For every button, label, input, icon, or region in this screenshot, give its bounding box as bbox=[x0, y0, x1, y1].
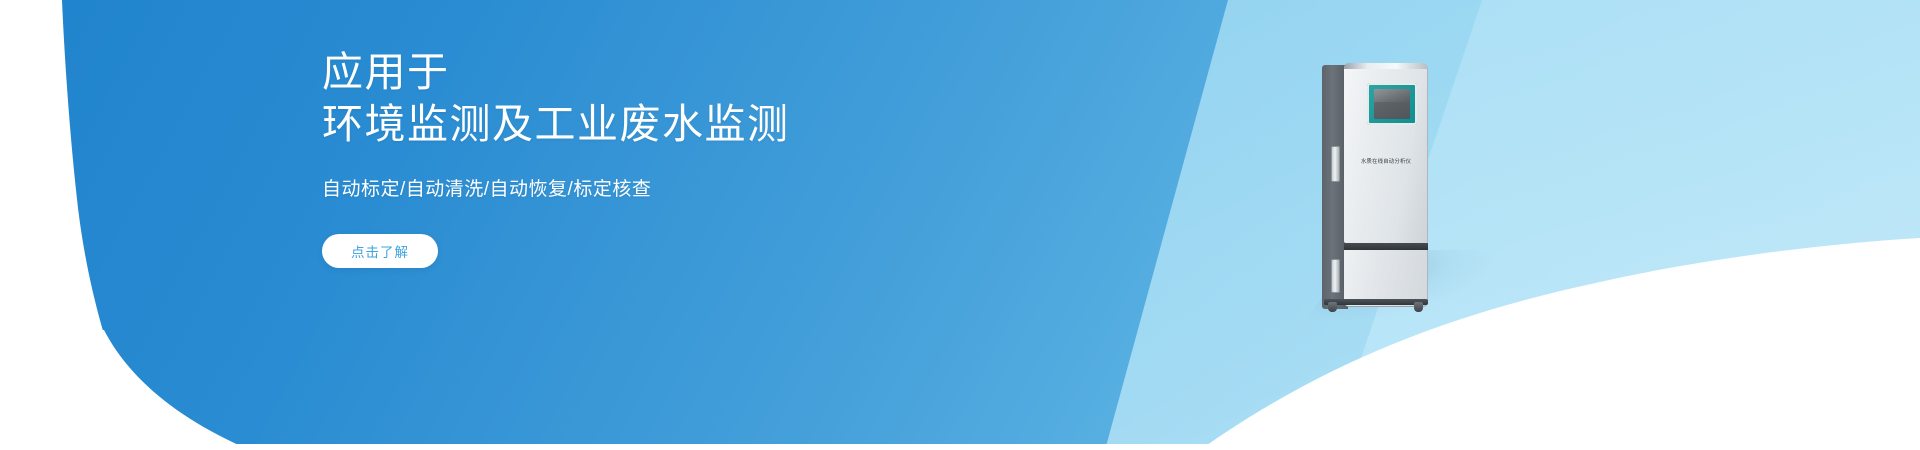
hero-subtitle: 自动标定/自动清洗/自动恢复/标定核查 bbox=[322, 176, 1082, 204]
device-screen bbox=[1374, 89, 1410, 119]
device-screen-bezel bbox=[1367, 83, 1417, 125]
hero-headline: 应用于 环境监测及工业废水监测 bbox=[322, 46, 1082, 150]
headline-line-1: 应用于 bbox=[322, 46, 1082, 98]
device-caster-right bbox=[1414, 302, 1423, 312]
device-model-label: 水质在线自动分析仪 bbox=[1344, 159, 1428, 166]
headline-line-2: 环境监测及工业废水监测 bbox=[322, 98, 1082, 150]
device-base-bar bbox=[1324, 299, 1428, 305]
device-caster-left bbox=[1328, 302, 1337, 312]
device-door-handle-upper bbox=[1331, 146, 1340, 182]
device-section-divider bbox=[1344, 243, 1428, 250]
water-quality-analyzer-device: 水质在线自动分析仪 bbox=[1322, 63, 1432, 311]
screen-glare bbox=[1374, 89, 1410, 102]
hero-text-block: 应用于 环境监测及工业废水监测 自动标定/自动清洗/自动恢复/标定核查 点击了解 bbox=[322, 46, 1082, 268]
hero-banner: 应用于 环境监测及工业废水监测 自动标定/自动清洗/自动恢复/标定核查 点击了解… bbox=[0, 0, 1920, 450]
device-top-cap bbox=[1344, 63, 1428, 69]
learn-more-button[interactable]: 点击了解 bbox=[322, 234, 438, 268]
device-door-handle-lower bbox=[1331, 259, 1340, 293]
